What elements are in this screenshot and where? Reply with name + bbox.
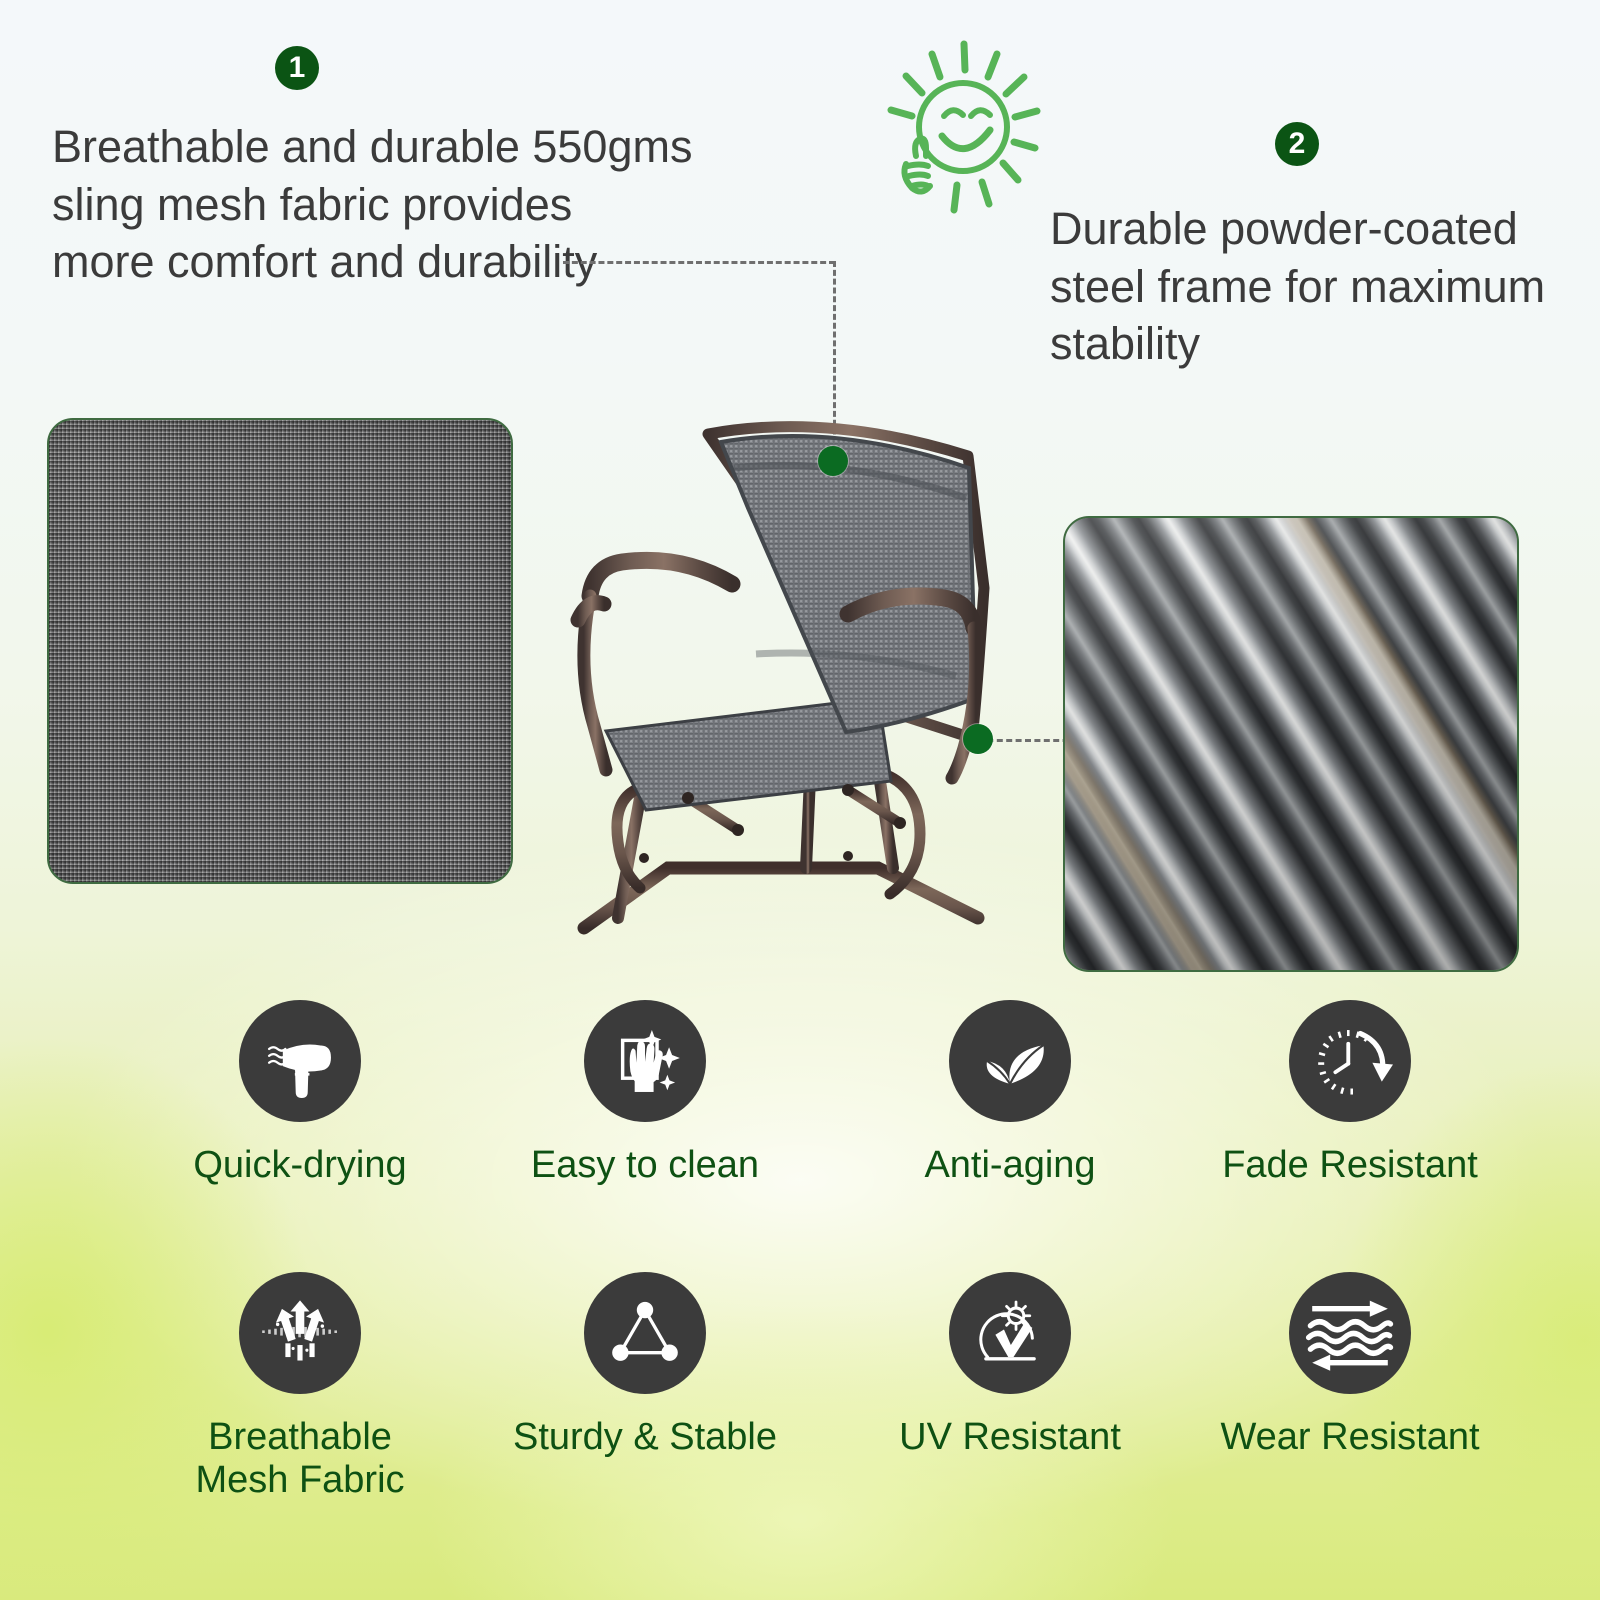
infographic-page: 1 Breathable and durable 550gms sling me… [0, 0, 1600, 1600]
hotspot-dot-fabric [818, 446, 848, 476]
callout-1-leader-horizontal [563, 261, 835, 264]
steel-tubes-image [1063, 516, 1519, 972]
hand-wiping-cloth-sparkle-icon [584, 1000, 706, 1122]
feature-sturdy-stable: Sturdy & Stable [495, 1272, 795, 1459]
clock-arrow-icon [1289, 1000, 1411, 1122]
feature-quick-drying: Quick-drying [150, 1000, 450, 1187]
smiling-sun-thumbs-up-icon [866, 32, 1056, 227]
feature-uv-resistant: UV Resistant [860, 1272, 1160, 1459]
triangle-nodes-icon [584, 1272, 706, 1394]
feature-label: UV Resistant [899, 1416, 1121, 1459]
hair-dryer-icon [239, 1000, 361, 1122]
feature-label: Sturdy & Stable [513, 1416, 777, 1459]
product-image-glider-chair [548, 398, 1054, 964]
sun-checkmark-icon [949, 1272, 1071, 1394]
feature-breathable-mesh-fabric: Breathable Mesh Fabric [150, 1272, 450, 1501]
callout-badge-1: 1 [275, 46, 319, 90]
arrows-waves-icon [1289, 1272, 1411, 1394]
airflow-through-mesh-icon [239, 1272, 361, 1394]
steel-shading-overlay [1065, 518, 1517, 970]
fabric-swatch-image [47, 418, 513, 884]
feature-label: Quick-drying [193, 1144, 406, 1187]
feature-label: Easy to clean [531, 1144, 759, 1187]
feature-label: Breathable Mesh Fabric [195, 1416, 404, 1501]
feature-label: Fade Resistant [1222, 1144, 1478, 1187]
two-leaves-icon [949, 1000, 1071, 1122]
feature-fade-resistant: Fade Resistant [1200, 1000, 1500, 1187]
callout-text-2: Durable powder-coated steel frame for ma… [1050, 200, 1570, 373]
callout-badge-2: 2 [1275, 122, 1319, 166]
feature-anti-aging: Anti-aging [860, 1000, 1160, 1187]
feature-label: Anti-aging [924, 1144, 1095, 1187]
callout-text-1: Breathable and durable 550gms sling mesh… [52, 118, 712, 291]
feature-label: Wear Resistant [1220, 1416, 1479, 1459]
feature-wear-resistant: Wear Resistant [1200, 1272, 1500, 1459]
hotspot-dot-frame [963, 724, 993, 754]
feature-easy-to-clean: Easy to clean [495, 1000, 795, 1187]
